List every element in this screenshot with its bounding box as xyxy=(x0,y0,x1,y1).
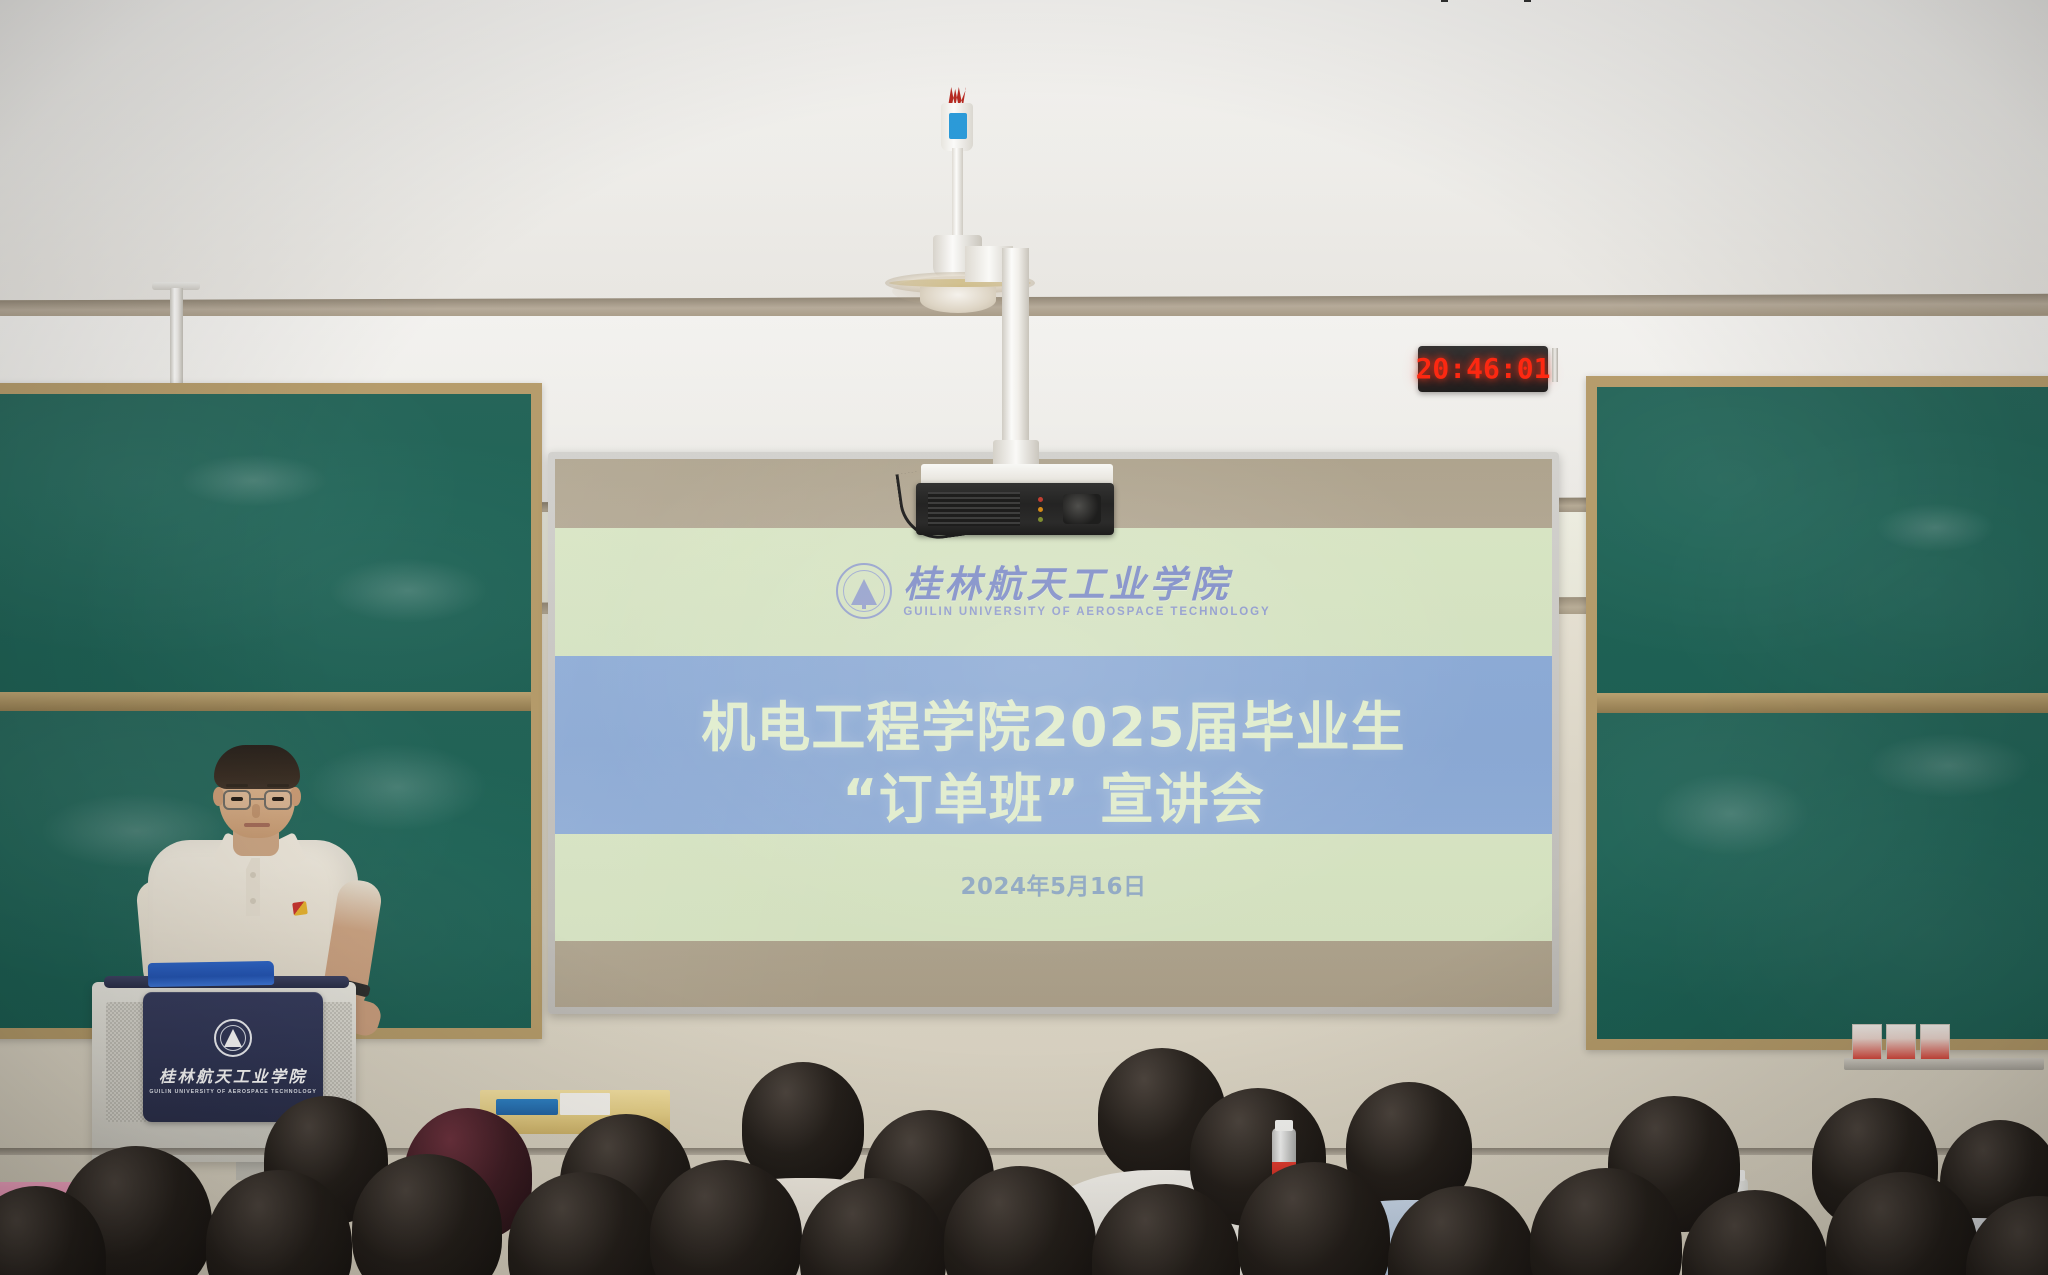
wall-digital-clock: 20:46:01 xyxy=(1418,346,1548,392)
slide-date: 2024年5月16日 xyxy=(555,867,1552,901)
water-bottle-cap xyxy=(1275,1120,1293,1131)
projector-power-led xyxy=(1038,497,1043,502)
speaker-lapel-pin-icon xyxy=(292,901,308,916)
chalk-box xyxy=(1886,1024,1916,1060)
ceiling-fan-hub xyxy=(920,287,996,313)
speaker-eyebrow-left xyxy=(226,784,248,787)
speaker-shirt-button xyxy=(250,898,256,904)
speaker-eye-left xyxy=(231,797,243,801)
university-logo-text: 桂林航天工业学院 GUILIN UNIVERSITY OF AEROSPACE … xyxy=(903,565,1270,618)
speaker-nose xyxy=(252,804,260,818)
left-blackboard-rail xyxy=(0,692,531,711)
right-blackboard-panel-bottom xyxy=(1597,713,2048,1039)
sprinkler-rod xyxy=(952,148,963,238)
speaker-glasses-bridge xyxy=(251,798,264,800)
chalk-smudge xyxy=(1875,503,1995,552)
clock-time-display: 20:46:01 xyxy=(1416,355,1551,383)
seal-wing-shape xyxy=(224,1029,242,1047)
speaker-hair xyxy=(214,745,300,789)
projector-lens-icon xyxy=(1063,494,1101,524)
slide-title-line-2: “订单班” 宣讲会 xyxy=(555,764,1552,836)
speaker-shirt-placket xyxy=(246,858,260,916)
chalk-smudge xyxy=(328,558,488,624)
speaker-eye-right xyxy=(272,797,284,801)
speaker-eyebrow-right xyxy=(267,784,289,787)
clock-mount-tab xyxy=(1441,0,1448,2)
right-blackboard-panel-top xyxy=(1597,387,2048,693)
podium-university-name-en: GUILIN UNIVERSITY OF AEROSPACE TECHNOLOG… xyxy=(149,1089,316,1095)
podium-seal-icon xyxy=(214,1019,252,1057)
projector-temp-led xyxy=(1038,517,1043,522)
projector-vents xyxy=(928,492,1020,526)
right-blackboard-surface xyxy=(1597,387,2048,1039)
speaker-shirt-button xyxy=(250,872,256,878)
left-blackboard-panel-top xyxy=(0,394,531,692)
desk-blue-sign xyxy=(496,1099,558,1115)
slide-title-block: 机电工程学院2025届毕业生 “订单班” 宣讲会 xyxy=(555,692,1552,836)
projection-screen-frame: 桂林航天工业学院 GUILIN UNIVERSITY OF AEROSPACE … xyxy=(548,452,1559,1014)
speaker-mouth xyxy=(244,823,270,827)
chalk-box xyxy=(1852,1024,1882,1060)
desk-paper xyxy=(560,1093,610,1115)
chalk-smudge xyxy=(1866,733,2033,798)
projector-lamp-led xyxy=(1038,507,1043,512)
podium-blue-cloth xyxy=(148,961,274,987)
clock-mount-tab xyxy=(1524,0,1531,2)
seal-stem-shape xyxy=(862,596,866,609)
chalk-box xyxy=(1920,1024,1950,1060)
university-name-en: GUILIN UNIVERSITY OF AEROSPACE TECHNOLOG… xyxy=(903,606,1270,618)
projection-screen-surface: 桂林航天工业学院 GUILIN UNIVERSITY OF AEROSPACE … xyxy=(555,459,1552,1007)
right-blackboard xyxy=(1586,376,2048,1050)
chalk-smudge xyxy=(1653,772,1810,857)
university-name-cn: 桂林航天工业学院 xyxy=(903,565,1270,604)
slide-title-line-1: 机电工程学院2025届毕业生 xyxy=(555,692,1552,764)
chalk-smudge xyxy=(179,454,329,508)
university-seal-icon xyxy=(836,563,892,619)
clock-conduit xyxy=(1552,348,1558,382)
fire-sprinkler-icon xyxy=(941,103,973,151)
slide-university-logo: 桂林航天工业学院 GUILIN UNIVERSITY OF AEROSPACE … xyxy=(555,563,1552,619)
chalk-smudge xyxy=(307,743,489,832)
projector-pole xyxy=(1002,248,1029,451)
podium-university-name-cn: 桂林航天工业学院 xyxy=(159,1063,307,1087)
right-blackboard-rail xyxy=(1597,693,2048,713)
classroom-photo-scene: 20:46:01 桂林航天工业学院 GUILIN UNIVERSITY OF A… xyxy=(0,0,2048,1275)
sprinkler-label xyxy=(949,113,967,139)
slide-band-tan-bottom xyxy=(555,941,1552,1007)
